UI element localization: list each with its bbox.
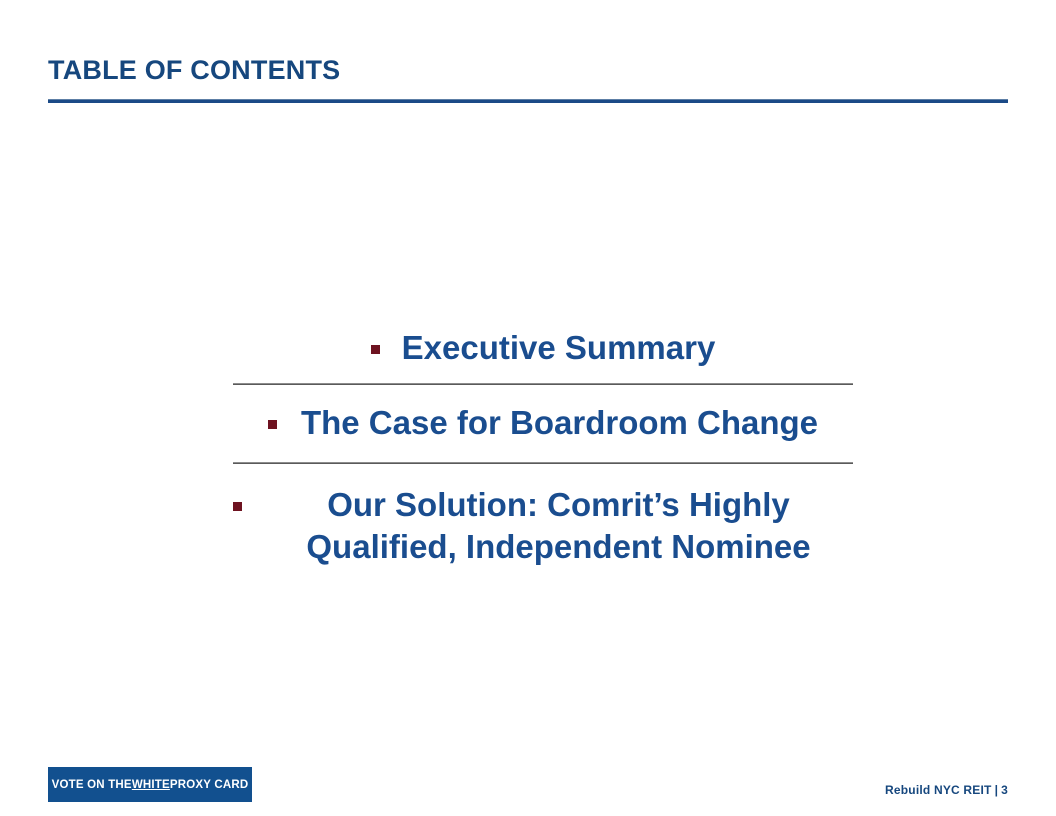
square-bullet-icon: [268, 420, 277, 429]
toc-item-executive-summary[interactable]: Executive Summary: [233, 318, 853, 383]
footer-page-number: 3: [1001, 783, 1008, 797]
vote-proxy-card-badge[interactable]: VOTE ON THE WHITE PROXY CARD: [48, 767, 252, 802]
footer-separator: |: [992, 783, 1002, 797]
page-title: TABLE OF CONTENTS: [48, 55, 340, 86]
toc-item-case-for-boardroom-change[interactable]: The Case for Boardroom Change: [233, 385, 853, 462]
footer-company-name: Rebuild NYC REIT: [885, 783, 992, 797]
toc-item-our-solution[interactable]: Our Solution: Comrit’s Highly Qualified,…: [233, 464, 853, 578]
square-bullet-icon: [371, 345, 380, 354]
slide-canvas: TABLE OF CONTENTS Executive Summary The …: [0, 0, 1056, 816]
toc-item-label: Executive Summary: [402, 327, 716, 369]
proxy-badge-prefix: VOTE ON THE: [52, 779, 132, 791]
proxy-badge-emphasis: WHITE: [132, 779, 170, 791]
table-of-contents-list: Executive Summary The Case for Boardroom…: [233, 318, 853, 578]
title-underline-rule: [48, 99, 1008, 103]
proxy-badge-suffix: PROXY CARD: [170, 779, 248, 791]
square-bullet-icon: [233, 502, 242, 511]
footer-company-and-page: Rebuild NYC REIT|3: [885, 783, 1008, 797]
toc-item-label: Our Solution: Comrit’s Highly Qualified,…: [264, 484, 853, 568]
toc-item-label: The Case for Boardroom Change: [301, 402, 818, 444]
